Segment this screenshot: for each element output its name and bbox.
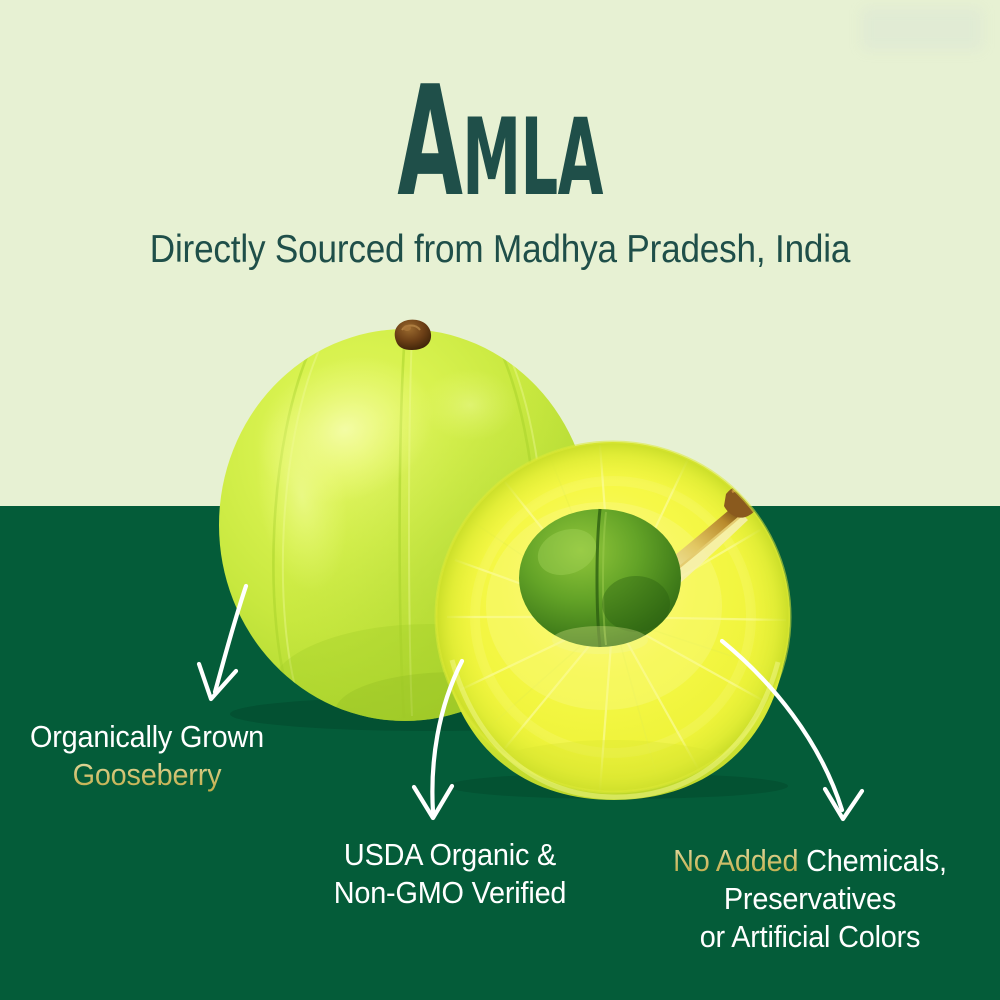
callout-accent-text: No Added xyxy=(673,843,798,878)
callout-organically-grown: Organically Grown Gooseberry xyxy=(30,718,264,794)
callout-line: USDA Organic & xyxy=(311,836,590,874)
page-subtitle: Directly Sourced from Madhya Pradesh, In… xyxy=(50,228,950,272)
product-infographic: Amla Directly Sourced from Madhya Prades… xyxy=(0,0,1000,1000)
callout-no-added: No Added Chemicals, Preservatives or Art… xyxy=(661,842,959,955)
callout-line-gold: Gooseberry xyxy=(30,756,264,794)
callout-line: Preservatives xyxy=(661,880,959,918)
page-title: Amla xyxy=(190,66,810,218)
watermark-artifact xyxy=(862,8,982,50)
callout-line: Organically Grown xyxy=(30,718,264,756)
callout-line-rest: Chemicals, xyxy=(798,843,947,878)
callout-line: No Added Chemicals, xyxy=(661,842,959,880)
callout-line: or Artificial Colors xyxy=(661,918,959,956)
callout-usda-organic: USDA Organic & Non-GMO Verified xyxy=(311,836,590,912)
callout-line: Non-GMO Verified xyxy=(311,874,590,912)
